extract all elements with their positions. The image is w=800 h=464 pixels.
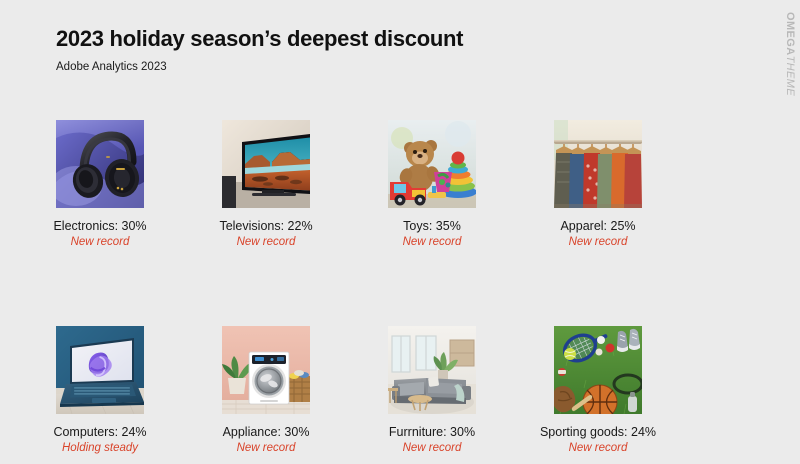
watermark-italic-text: THEME [784,56,796,97]
page-subtitle: Adobe Analytics 2023 [56,61,463,73]
category-label: Appliance: 30% [223,425,310,439]
category-note: New record [71,236,130,248]
category-cell-computers[interactable]: Computers: 24% Holding steady [56,326,144,454]
category-label: Apparel: 25% [560,219,635,233]
washing-machine-photo-icon [222,326,310,414]
category-note: New record [569,236,628,248]
watermark-bold-text: OMEGA [784,12,796,56]
category-label: Electronics: 30% [53,219,146,233]
sofa-photo-icon [388,326,476,414]
watermark-label: OMEGATHEME [784,12,796,96]
apparel-photo-icon [554,120,642,208]
category-note: New record [237,236,296,248]
category-label: Furrniture: 30% [389,425,475,439]
television-photo-icon [222,120,310,208]
category-cell-furniture[interactable]: Furrniture: 30% New record [388,326,476,454]
toys-photo-icon [388,120,476,208]
category-note: New record [237,442,296,454]
headphones-photo-icon [56,120,144,208]
category-note: New record [569,442,628,454]
category-label: Televisions: 22% [219,219,312,233]
category-note: Holding steady [62,442,138,454]
category-label: Computers: 24% [53,425,146,439]
category-cell-apparel[interactable]: Apparel: 25% New record [554,120,642,248]
category-cell-toys[interactable]: Toys: 35% New record [388,120,476,248]
category-cell-televisions[interactable]: Televisions: 22% New record [222,120,310,248]
page-header: 2023 holiday season’s deepest discount A… [56,26,463,73]
watermark: OMEGATHEME [778,14,798,94]
category-cell-electronics[interactable]: Electronics: 30% New record [56,120,144,248]
laptop-photo-icon [56,326,144,414]
category-cell-sporting-goods[interactable]: Sporting goods: 24% New record [554,326,642,454]
category-note: New record [403,442,462,454]
category-cell-appliance[interactable]: Appliance: 30% New record [222,326,310,454]
category-note: New record [403,236,462,248]
category-grid: Electronics: 30% New record [56,120,748,454]
category-label: Sporting goods: 24% [540,425,656,439]
category-label: Toys: 35% [403,219,461,233]
sporting-goods-photo-icon [554,326,642,414]
page-title: 2023 holiday season’s deepest discount [56,26,463,52]
